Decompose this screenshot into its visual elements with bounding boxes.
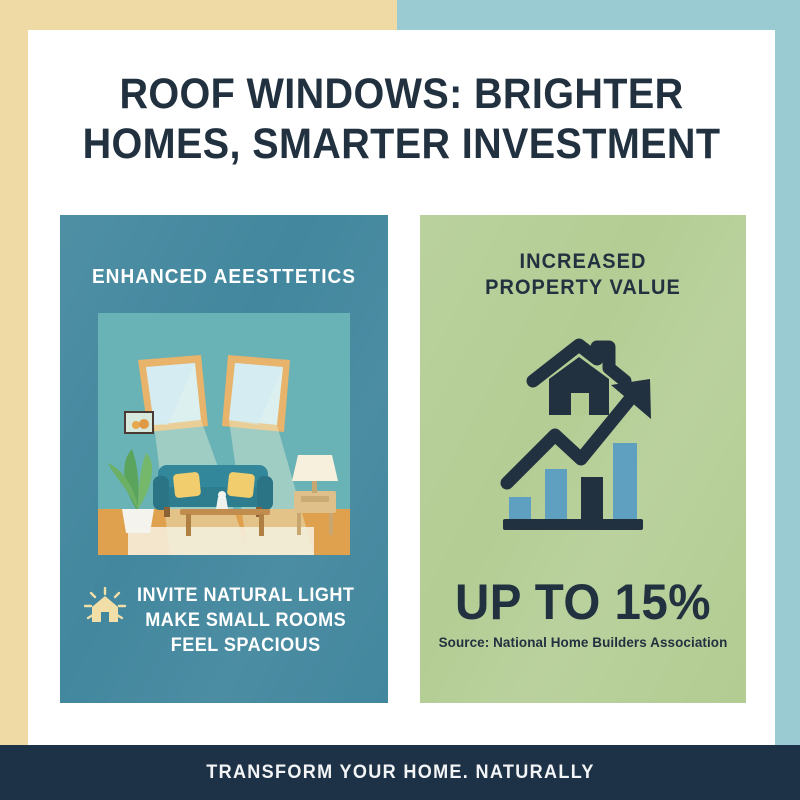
stat-value: UP TO 15% bbox=[428, 573, 738, 631]
frame-top-teal-bar bbox=[397, 0, 800, 30]
right-panel-title-line-1: INCREASED bbox=[428, 249, 738, 275]
left-panel-title-line: ENHANCED AEESTTETICS bbox=[68, 265, 380, 290]
caption-line-2: MAKE SMALL ROOMS bbox=[137, 608, 354, 633]
caption-line-1: INVITE NATURAL LIGHT bbox=[137, 583, 354, 608]
house-growth-chart-icon bbox=[493, 335, 673, 540]
caption-line-3: FEEL SPACIOUS bbox=[137, 633, 354, 658]
frame-top-cream-bar bbox=[0, 0, 397, 30]
shining-house-icon bbox=[83, 587, 127, 632]
left-panel-title: ENHANCED AEESTTETICS bbox=[68, 265, 380, 290]
panel-enhanced-aesthetics: ENHANCED AEESTTETICS bbox=[60, 215, 388, 703]
right-panel-title-line-2: PROPERTY VALUE bbox=[428, 275, 738, 301]
frame-right-teal-bar bbox=[775, 0, 800, 745]
page-title: ROOF WINDOWS: BRIGHTER HOMES, SMARTER IN… bbox=[58, 70, 745, 170]
headline-line-2: HOMES, SMARTER INVESTMENT bbox=[58, 120, 745, 170]
footer-tagline: TRANSFORM YOUR HOME. NATURALLY bbox=[206, 762, 595, 784]
left-panel-caption: INVITE NATURAL LIGHT MAKE SMALL ROOMS FE… bbox=[60, 583, 388, 658]
headline-line-1: ROOF WINDOWS: BRIGHTER bbox=[58, 70, 745, 120]
infographic-canvas: ROOF WINDOWS: BRIGHTER HOMES, SMARTER IN… bbox=[0, 0, 800, 800]
left-panel-caption-text: INVITE NATURAL LIGHT MAKE SMALL ROOMS FE… bbox=[137, 583, 354, 658]
right-panel-title: INCREASED PROPERTY VALUE bbox=[428, 249, 738, 302]
stat-source: Source: National Home Builders Associati… bbox=[427, 634, 740, 650]
room-with-roof-windows-illustration bbox=[98, 313, 350, 555]
panel-increased-property-value: INCREASED PROPERTY VALUE UP TO 15 bbox=[420, 215, 746, 703]
frame-left-cream-bar bbox=[0, 0, 28, 745]
footer-band: TRANSFORM YOUR HOME. NATURALLY bbox=[0, 745, 800, 800]
